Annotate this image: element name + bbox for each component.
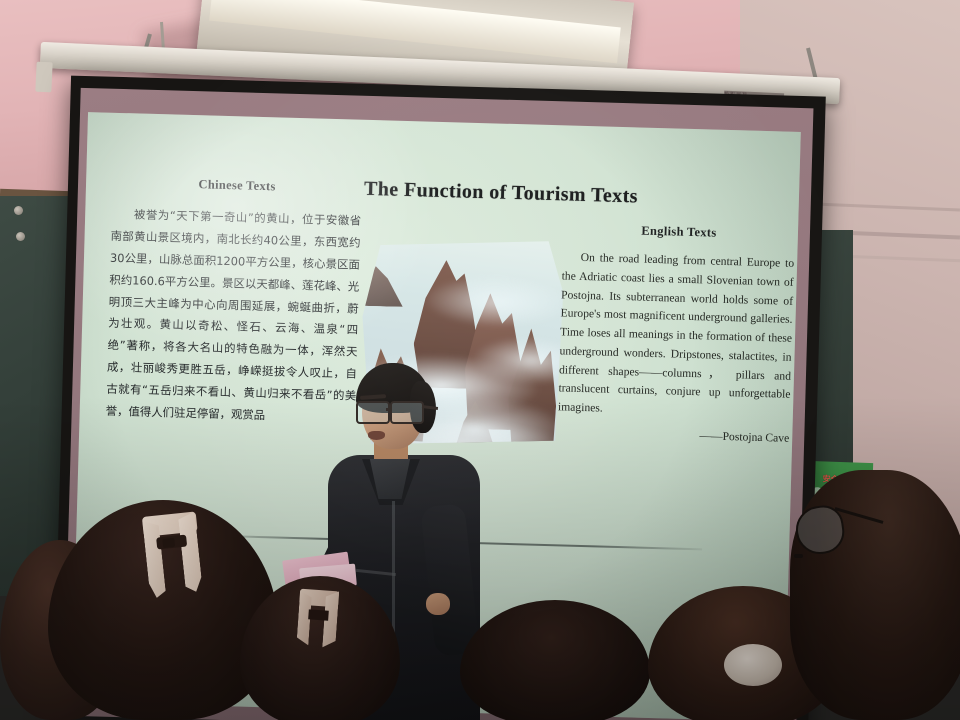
classroom-photo-scene: 安全 第一 投影屏幕 The Function of Tourism Texts…: [0, 0, 960, 720]
hair-scrunchie: [724, 644, 782, 686]
english-column: English Texts On the road leading from c…: [557, 221, 795, 444]
roller-end-cap: [35, 62, 52, 93]
presenter-lens-left: [356, 401, 390, 424]
chinese-column-heading: Chinese Texts: [112, 175, 362, 197]
hair-clip-gap: [308, 609, 329, 620]
presenter-glasses-icon: [356, 401, 430, 421]
wall-screw-1: [14, 206, 23, 215]
student-center-left: [240, 576, 400, 720]
student-hair: [460, 600, 650, 720]
student-glasses-bridge: [794, 554, 803, 558]
english-column-body: On the road leading from central Europe …: [558, 248, 795, 423]
student-center: [460, 600, 650, 720]
presenter-mouth: [368, 431, 385, 440]
student-glasses-icon: [794, 506, 866, 552]
hair-clip-secondary: [296, 589, 340, 656]
slide-title: The Function of Tourism Texts: [341, 177, 662, 209]
hair-clip-hole: [162, 538, 175, 548]
english-column-heading: English Texts: [563, 221, 795, 242]
presenter-glasses-bridge: [386, 408, 392, 411]
presenter-lens-right: [390, 401, 424, 424]
presenter-hand-lower: [426, 593, 450, 615]
student-right-with-glasses: [790, 470, 960, 720]
wall-screw-2: [16, 232, 25, 241]
hair-clip: [142, 511, 204, 598]
english-attribution: ——Postojna Cave: [557, 425, 789, 444]
photo-peak-far-left: [359, 266, 404, 307]
